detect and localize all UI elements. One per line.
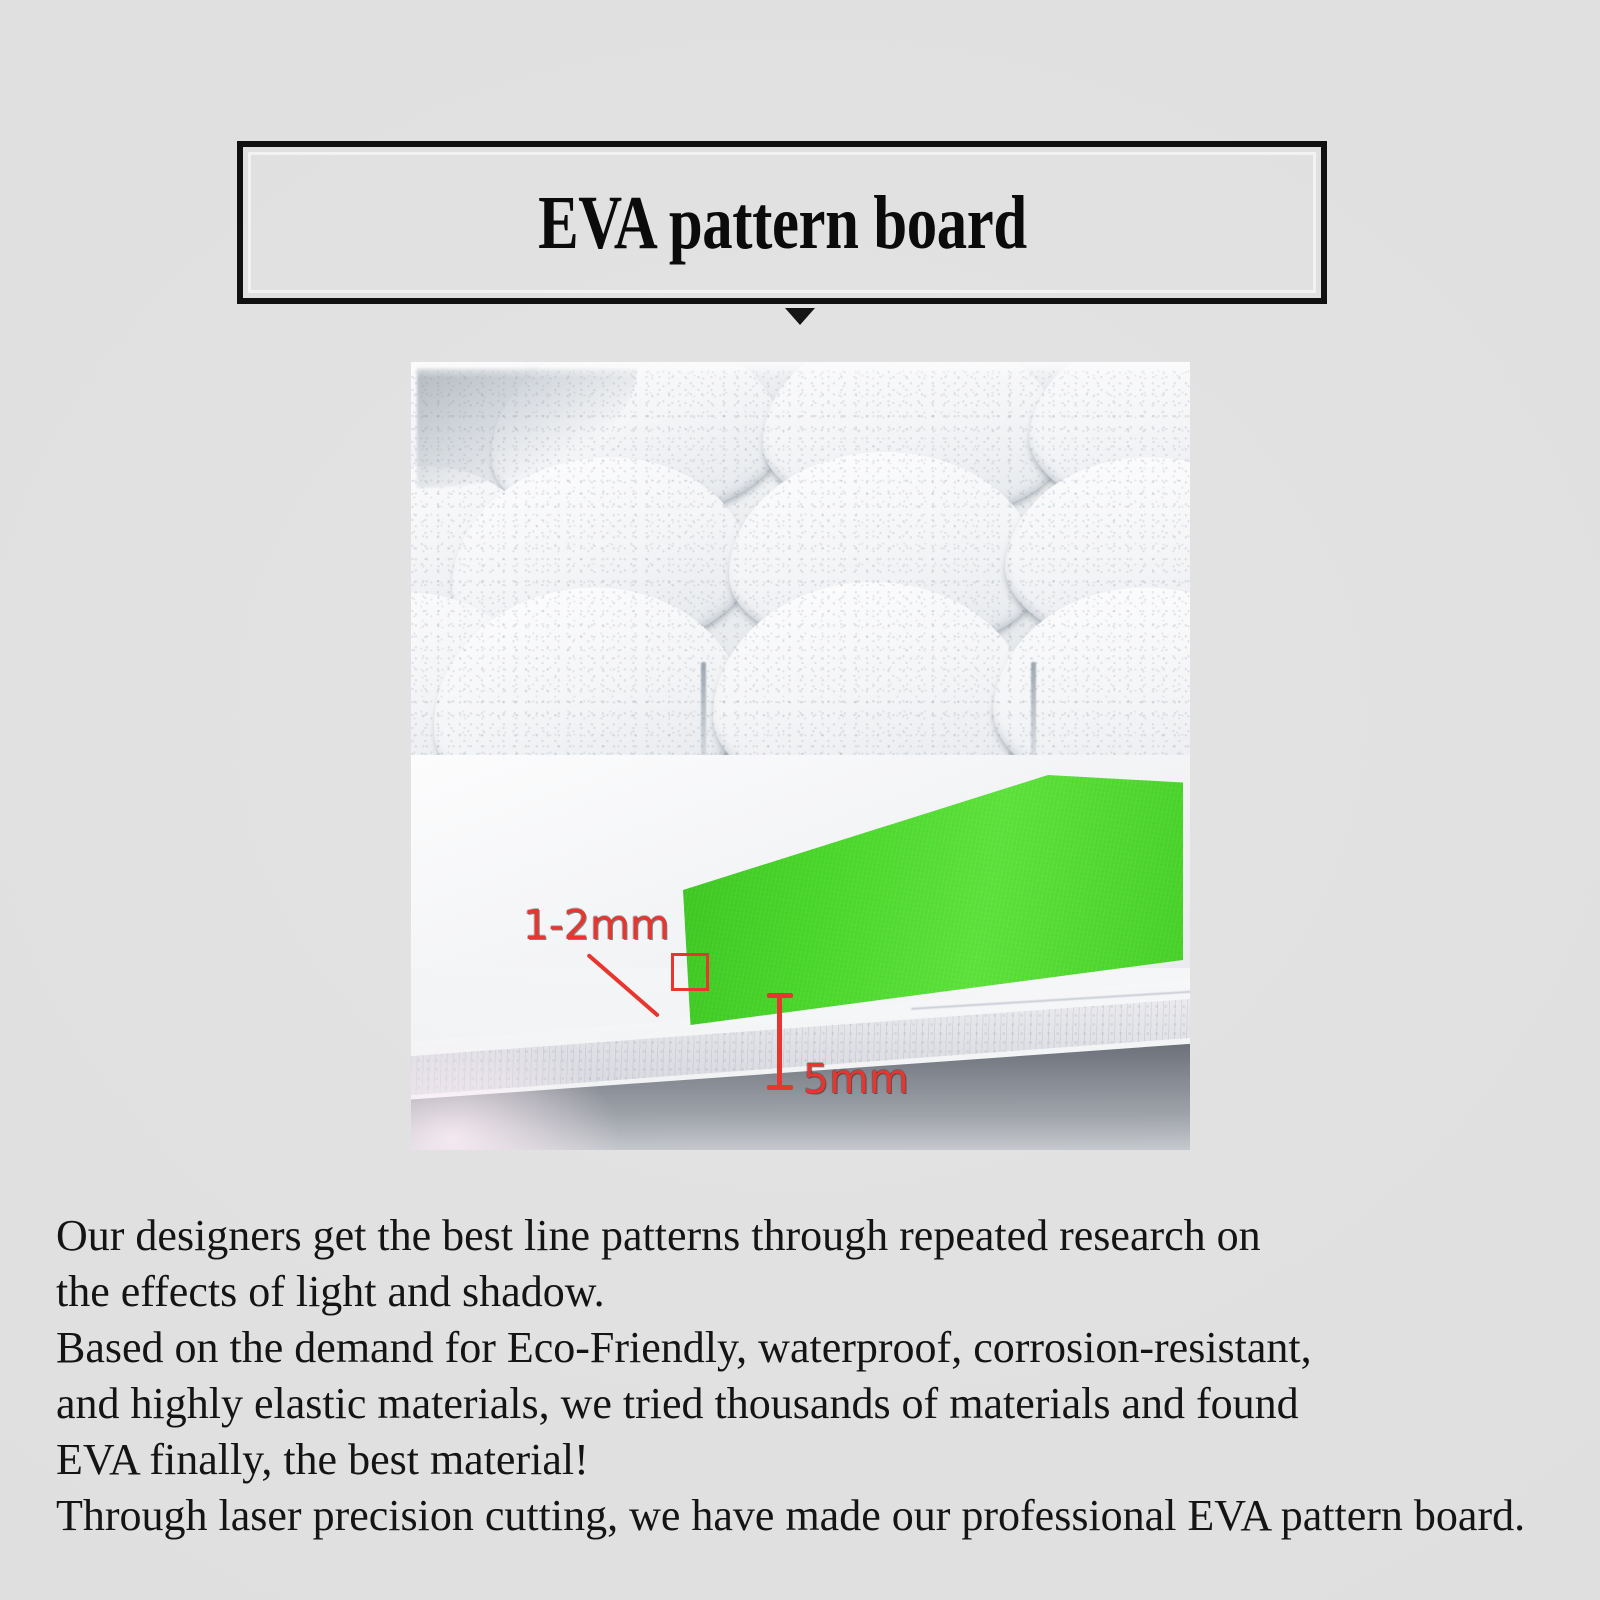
eva-thickness-detail-image: 1-2mm 5mm: [411, 755, 1190, 1150]
description-line: and highly elastic materials, we tried t…: [56, 1376, 1556, 1432]
surface-highlight: [411, 1030, 621, 1150]
product-image-gallery: 1-2mm 5mm: [411, 362, 1190, 1150]
page-title: EVA pattern board: [538, 185, 1027, 261]
description-line: the effects of light and shadow.: [56, 1264, 1556, 1320]
photo-top-highlight: [411, 362, 1190, 378]
title-banner: EVA pattern board: [237, 141, 1327, 304]
eva-pattern-closeup-image: [411, 362, 1190, 755]
description-line: Through laser precision cutting, we have…: [56, 1488, 1556, 1544]
title-banner-outer-border: EVA pattern board: [237, 141, 1327, 304]
description-line: Our designers get the best line patterns…: [56, 1208, 1556, 1264]
description-line: Based on the demand for Eco-Friendly, wa…: [56, 1320, 1556, 1376]
product-detail-page: EVA pattern board: [0, 0, 1600, 1600]
product-description: Our designers get the best line patterns…: [56, 1208, 1556, 1544]
title-banner-inner-border: EVA pattern board: [248, 152, 1316, 293]
description-line: EVA finally, the best material!: [56, 1432, 1556, 1488]
chevron-down-icon: [785, 308, 815, 325]
